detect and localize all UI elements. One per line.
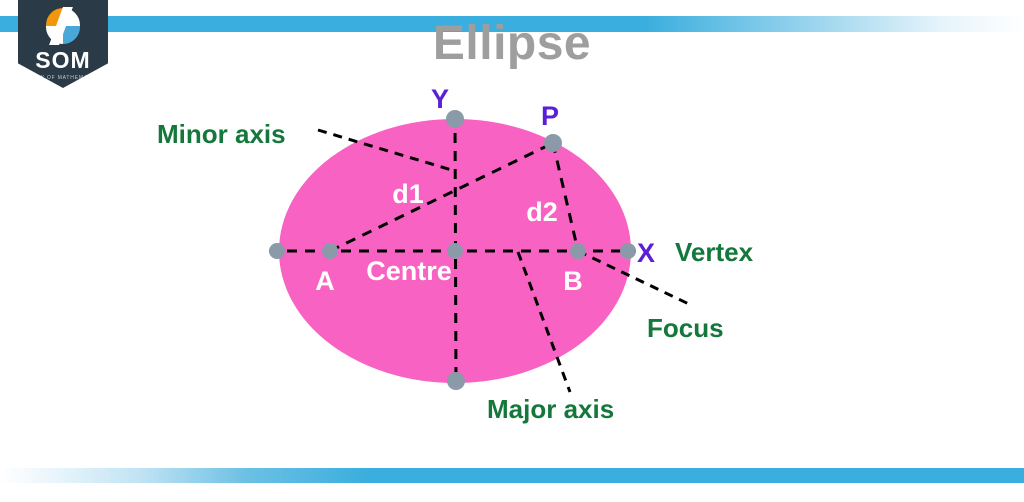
ellipse-diagram: Y X P A B Centre d1 d2 Minor axis Major … [0,0,1024,502]
point-left-vertex [269,243,285,259]
callout-focus: Focus [647,313,724,343]
label-focus-a: A [315,266,335,296]
point-focus-b [570,243,586,259]
label-centre: Centre [366,256,452,286]
label-x-axis: X [637,238,655,268]
label-distance-d2: d2 [526,197,558,227]
label-focus-b: B [563,266,583,296]
callout-major-axis: Major axis [487,394,614,424]
callout-minor-axis: Minor axis [157,119,286,149]
label-distance-d1: d1 [392,179,424,209]
label-y-axis: Y [431,84,449,114]
label-point-p: P [541,101,559,131]
point-right-vertex [620,243,636,259]
callout-vertex: Vertex [675,237,754,267]
point-focus-a [322,243,338,259]
point-p [544,134,562,152]
slide-canvas: SOM STORY OF MATHEMATICS Ellipse Y X [0,0,1024,502]
point-bottom-co-vertex [447,372,465,390]
